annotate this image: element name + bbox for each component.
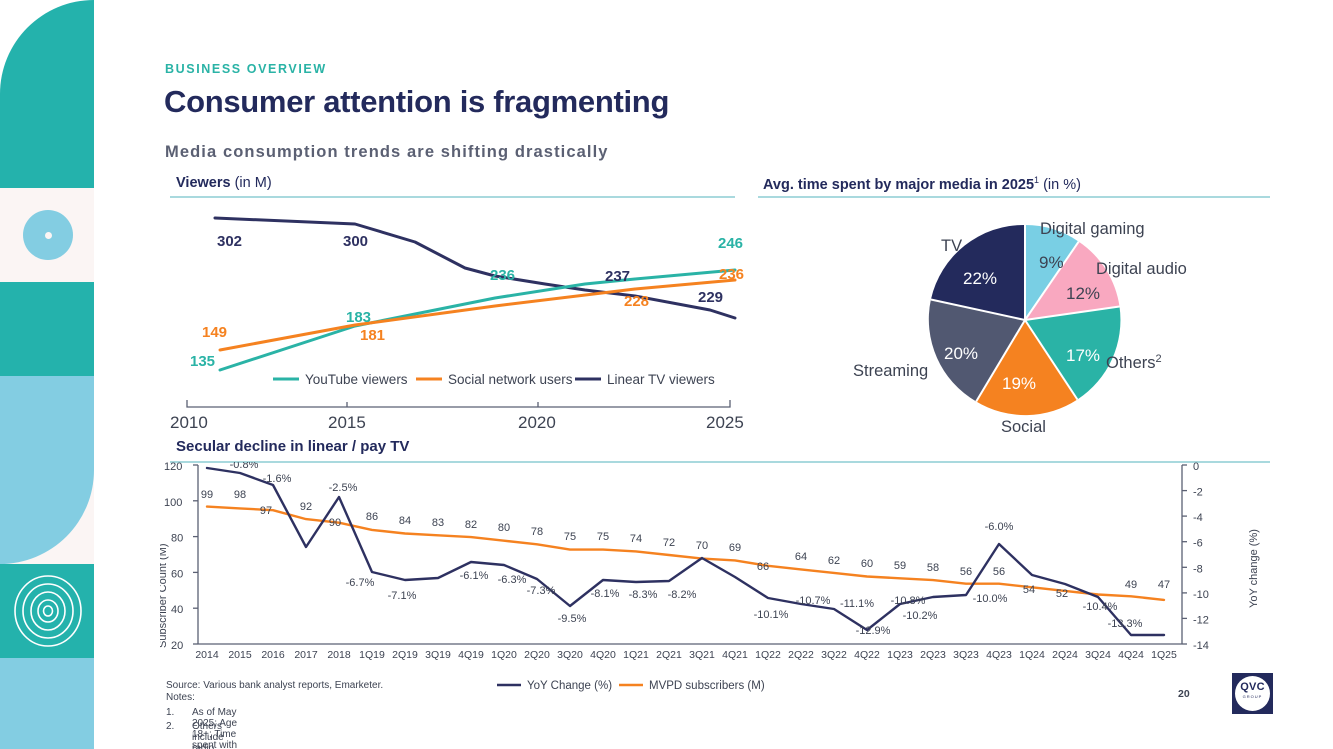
- secular-xtick-22: 2Q23: [920, 649, 946, 661]
- secular-left-ticks: [193, 465, 198, 644]
- mvpd-label-2017: 92: [300, 501, 312, 513]
- secular-xtick-8: 4Q19: [458, 649, 484, 661]
- yoy-label-2015: -0.8%: [230, 462, 259, 471]
- mvpd-label-2Q20: 78: [531, 526, 543, 538]
- secular-xtick-19: 3Q22: [821, 649, 847, 661]
- mvpd-label-2015: 98: [234, 489, 246, 501]
- viewers-legend-label-lineartv: Linear TV viewers: [607, 372, 715, 387]
- mvpd-label-1Q25: 47: [1158, 579, 1170, 591]
- secular-xtick-7: 3Q19: [425, 649, 451, 661]
- mvpd-label-2018: 90: [329, 517, 341, 529]
- yoy-label-3Q24: -10.4%: [1083, 601, 1118, 613]
- page-number: 20: [1178, 688, 1190, 700]
- secular-xtick-5: 1Q19: [359, 649, 385, 661]
- secular-xtick-11: 3Q20: [557, 649, 583, 661]
- viewers-legend-label-social: Social network users: [448, 372, 573, 387]
- mvpd-label-2Q19: 84: [399, 515, 411, 527]
- secular-xtick-4: 2018: [327, 649, 351, 661]
- mvpd-label-4Q20: 75: [597, 531, 609, 543]
- mvpd-label-1Q20: 80: [498, 522, 510, 534]
- yoy-label-1Q20: -6.3%: [498, 574, 527, 586]
- viewers-label-lineartv-2022: 237: [605, 268, 630, 285]
- yoy-label-4Q24: -13.3%: [1108, 618, 1143, 630]
- secular-left-tick-100: 100: [164, 497, 182, 509]
- secular-right-tick-n2: -2: [1193, 487, 1203, 499]
- yoy-label-2018: -2.5%: [329, 482, 358, 494]
- mvpd-label-1Q23: 59: [894, 560, 906, 572]
- note-2-text: Others include radio, messaging, and pri…: [192, 721, 243, 749]
- pie-label-digital-audio: Digital audio: [1096, 260, 1187, 278]
- media-panel-rule: [758, 196, 1270, 198]
- secular-panel-title-bold: Secular decline in linear / pay TV: [176, 438, 409, 455]
- mvpd-label-2Q21: 72: [663, 537, 675, 549]
- secular-xtick-23: 3Q23: [953, 649, 979, 661]
- viewers-label-lineartv-2011: 302: [217, 233, 242, 250]
- viewers-panel-title-bold: Viewers: [176, 175, 231, 191]
- yoy-label-1Q21: -8.3%: [629, 589, 658, 601]
- secular-right-ticks: [1182, 465, 1187, 644]
- secular-xtick-27: 3Q24: [1085, 649, 1111, 661]
- media-panel-title-rest: (in %): [1039, 177, 1081, 193]
- note-1-number: 1.: [166, 707, 174, 718]
- viewers-x-tick-label-2010: 2010: [170, 413, 208, 432]
- yoy-label-3Q20: -9.5%: [558, 613, 587, 625]
- mvpd-label-3Q22: 62: [828, 555, 840, 567]
- yoy-label-2Q21: -8.2%: [668, 589, 697, 601]
- secular-xtick-24: 4Q23: [986, 649, 1012, 661]
- yoy-label-2016: -1.6%: [263, 473, 292, 485]
- pie-value-streaming: 20%: [944, 344, 978, 363]
- mvpd-label-2016: 97: [260, 505, 272, 517]
- rail-block-dot: [0, 188, 94, 282]
- note-2-number: 2.: [166, 721, 174, 732]
- pie-label-digital-gaming: Digital gaming: [1040, 220, 1145, 238]
- qvc-group-logo: QVC GROUP: [1232, 673, 1273, 714]
- pie-label-tv: TV: [941, 237, 962, 255]
- secular-left-axis-title: Subscriber Count (M): [160, 543, 169, 648]
- rail-block-blue-bottom: [0, 658, 94, 749]
- mvpd-label-4Q21: 69: [729, 542, 741, 554]
- viewers-label-social-2025: 236: [719, 266, 744, 283]
- mvpd-label-1Q22: 66: [757, 561, 769, 573]
- viewers-label-lineartv-2025: 229: [698, 289, 723, 306]
- secular-right-tick-0: 0: [1193, 462, 1199, 473]
- secular-xtick-20: 4Q22: [854, 649, 880, 661]
- secular-decline-chart: 120 100 80 60 40 20 Subscriber Count (M)…: [160, 462, 1280, 672]
- media-panel-title-bold: Avg. time spent by major media in 2025: [763, 177, 1034, 193]
- viewers-label-youtube-2019: 236: [490, 267, 515, 284]
- yoy-label-4Q19: -6.1%: [460, 570, 489, 582]
- secular-xtick-17: 1Q22: [755, 649, 781, 661]
- viewers-label-youtube-2015: 183: [346, 309, 371, 326]
- pie-label-social: Social: [1001, 418, 1046, 436]
- viewers-label-social-2011: 149: [202, 324, 227, 341]
- secular-right-tick-n4: -4: [1193, 512, 1203, 524]
- secular-left-tick-80: 80: [171, 533, 183, 545]
- secular-right-tick-n14: -14: [1193, 640, 1209, 652]
- mvpd-label-2Q22: 64: [795, 551, 807, 563]
- eyebrow-label: BUSINESS OVERVIEW: [165, 62, 327, 76]
- yoy-label-1Q23: -10.8%: [891, 595, 926, 607]
- media-pie-chart: 9% 12% 17% 19% 20% 22% Digital gaming Di…: [760, 200, 1280, 440]
- mvpd-label-4Q22: 60: [861, 558, 873, 570]
- secular-right-tick-n10: -10: [1193, 589, 1209, 601]
- pie-value-social: 19%: [1002, 374, 1036, 393]
- secular-right-tick-n8: -8: [1193, 563, 1203, 575]
- concentric-rings-icon: [12, 570, 84, 650]
- viewers-panel-title-rest: (in M): [231, 175, 272, 191]
- yoy-label-2Q22: -10.7%: [796, 595, 831, 607]
- viewers-x-tick-label-2025: 2025: [706, 413, 744, 432]
- viewers-x-tick-label-2020: 2020: [518, 413, 556, 432]
- pie-label-streaming: Streaming: [853, 362, 928, 380]
- mvpd-label-2Q23: 58: [927, 562, 939, 574]
- mvpd-label-1Q19: 86: [366, 511, 378, 523]
- decorative-rail: [0, 0, 94, 749]
- pie-label-others-text: Others: [1106, 354, 1156, 372]
- viewers-label-lineartv-2015: 300: [343, 233, 368, 250]
- pie-value-digital-audio: 12%: [1066, 284, 1100, 303]
- secular-xtick-18: 2Q22: [788, 649, 814, 661]
- slide-root: BUSINESS OVERVIEW Consumer attention is …: [0, 0, 1333, 749]
- notes-label: Notes:: [166, 692, 195, 703]
- secular-xtick-3: 2017: [294, 649, 318, 661]
- circle-dot-center: [45, 232, 52, 239]
- page-subtitle: Media consumption trends are shifting dr…: [165, 143, 609, 162]
- mvpd-label-1Q21: 74: [630, 533, 642, 545]
- secular-left-tick-60: 60: [171, 568, 183, 580]
- mvpd-label-1Q24: 54: [1023, 584, 1035, 596]
- yoy-label-4Q23: -6.0%: [985, 521, 1014, 533]
- rail-block-teal-rounded: [0, 0, 94, 188]
- pie-label-others: Others2: [1106, 353, 1162, 372]
- secular-right-tick-n12: -12: [1193, 614, 1209, 626]
- secular-xtick-0: 2014: [195, 649, 219, 661]
- pie-value-others: 17%: [1066, 346, 1100, 365]
- secular-xtick-9: 1Q20: [491, 649, 517, 661]
- secular-xtick-15: 3Q21: [689, 649, 715, 661]
- rail-block-teal-plain: [0, 282, 94, 376]
- secular-xtick-28: 4Q24: [1118, 649, 1144, 661]
- mvpd-label-4Q24: 49: [1125, 579, 1137, 591]
- secular-legend-label-mvpd: MVPD subscribers (M): [649, 680, 765, 692]
- yoy-label-2Q23: -10.2%: [903, 610, 938, 622]
- secular-xtick-10: 2Q20: [524, 649, 550, 661]
- pie-label-others-sup: 2: [1156, 353, 1162, 365]
- secular-xtick-21: 1Q23: [887, 649, 913, 661]
- viewers-label-youtube-2025: 246: [718, 235, 743, 252]
- viewers-x-tick-label-2015: 2015: [328, 413, 366, 432]
- secular-xtick-2: 2016: [261, 649, 285, 661]
- viewers-label-social-2022: 228: [624, 293, 649, 310]
- yoy-label-4Q22: -12.9%: [856, 625, 891, 637]
- yoy-label-1Q22: -10.1%: [754, 609, 789, 621]
- mvpd-label-4Q23: 56: [993, 566, 1005, 578]
- mvpd-label-3Q23: 56: [960, 566, 972, 578]
- yoy-label-3Q23: -10.0%: [973, 593, 1008, 605]
- viewers-x-axis: [187, 400, 730, 407]
- rail-block-rings: [0, 564, 94, 658]
- secular-x-tick-labels: 2014 2015 2016 2017 2018 1Q19 2Q19 3Q19 …: [195, 649, 1177, 661]
- secular-xtick-25: 1Q24: [1019, 649, 1045, 661]
- pie-value-tv: 22%: [963, 269, 997, 288]
- mvpd-label-3Q19: 83: [432, 517, 444, 529]
- page-title: Consumer attention is fragmenting: [164, 84, 669, 120]
- secular-panel-title: Secular decline in linear / pay TV: [176, 438, 409, 455]
- mvpd-label-2014: 99: [201, 489, 213, 501]
- secular-xtick-14: 2Q21: [656, 649, 682, 661]
- series-youtube-line: [220, 270, 735, 370]
- yoy-label-3Q22: -11.1%: [840, 598, 874, 610]
- secular-xtick-29: 1Q25: [1151, 649, 1177, 661]
- mvpd-label-2Q24: 52: [1056, 588, 1068, 600]
- pie-value-digital-gaming: 9%: [1039, 253, 1064, 272]
- viewers-label-social-2015: 181: [360, 327, 385, 344]
- logo-primary-text: QVC: [1232, 681, 1273, 693]
- viewers-label-youtube-2011: 135: [190, 353, 215, 370]
- secular-left-tick-120: 120: [164, 462, 182, 473]
- secular-left-tick-40: 40: [171, 604, 183, 616]
- yoy-label-1Q19: -6.7%: [346, 577, 375, 589]
- secular-xtick-26: 2Q24: [1052, 649, 1078, 661]
- secular-xtick-1: 2015: [228, 649, 252, 661]
- secular-legend-label-yoy: YoY Change (%): [527, 680, 612, 692]
- yoy-label-2Q20: -7.3%: [527, 585, 556, 597]
- source-line: Source: Various bank analyst reports, Em…: [166, 679, 383, 693]
- secular-xtick-16: 4Q21: [722, 649, 748, 661]
- media-panel-title: Avg. time spent by major media in 20251 …: [763, 175, 1081, 193]
- logo-secondary-text: GROUP: [1232, 694, 1273, 699]
- secular-xtick-13: 1Q21: [623, 649, 649, 661]
- secular-legend: YoY Change (%) MVPD subscribers (M): [495, 675, 895, 697]
- secular-right-axis-title: YoY change (%): [1248, 529, 1260, 608]
- secular-xtick-12: 4Q20: [590, 649, 616, 661]
- mvpd-label-3Q20: 75: [564, 531, 576, 543]
- mvpd-label-3Q21: 70: [696, 540, 708, 552]
- yoy-label-4Q20: -8.1%: [591, 588, 620, 600]
- yoy-label-2Q19: -7.1%: [388, 590, 417, 602]
- mvpd-label-4Q19: 82: [465, 519, 477, 531]
- series-social-line: [220, 280, 735, 350]
- secular-left-tick-20: 20: [171, 640, 183, 652]
- viewers-panel-title: Viewers (in M): [176, 175, 272, 191]
- viewers-line-chart: 302 300 237 229 135 183 236 246 149 181 …: [165, 198, 745, 438]
- secular-right-tick-n6: -6: [1193, 538, 1203, 550]
- viewers-legend-label-youtube: YouTube viewers: [305, 372, 408, 387]
- secular-xtick-6: 2Q19: [392, 649, 418, 661]
